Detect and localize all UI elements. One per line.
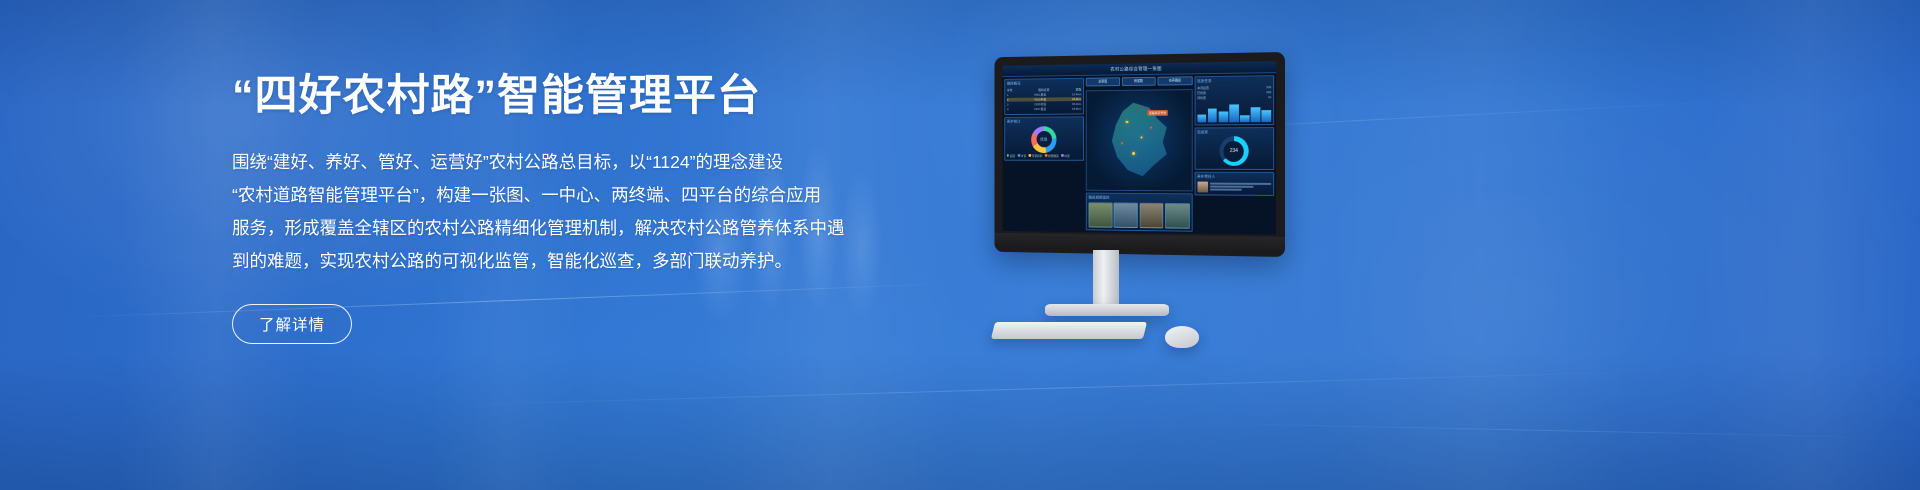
video-thumbnail[interactable] bbox=[1139, 203, 1163, 229]
legend-item: 乡道 bbox=[1018, 154, 1026, 158]
dashboard-screen: 农村公路综合管理一张图 路网概况 序号 路线名称 里程 1 bbox=[1002, 61, 1276, 235]
map-marker[interactable] bbox=[1126, 121, 1128, 123]
panel-heading: 养护责任人 bbox=[1197, 175, 1271, 180]
cell: 4 bbox=[1007, 107, 1009, 111]
panel-heading: 完成率 bbox=[1197, 130, 1271, 135]
table-row: 已处置 196 bbox=[1197, 90, 1271, 95]
cell: 待处置 bbox=[1197, 95, 1206, 99]
donut-value: 234 bbox=[1224, 141, 1244, 162]
cell: 33.1km bbox=[1072, 101, 1081, 105]
cell: X001县道 bbox=[1034, 92, 1046, 96]
cell: 已处置 bbox=[1197, 90, 1206, 94]
bar-chart bbox=[1197, 100, 1271, 122]
cell: 18.6km bbox=[1072, 106, 1081, 110]
description-line: 服务，形成覆盖全辖区的农村公路精细化管理机制，解决农村公路管养体系中遇 bbox=[232, 212, 882, 245]
cell: 里程 bbox=[1076, 87, 1082, 91]
cell: 2 bbox=[1007, 97, 1009, 101]
video-thumbnail[interactable] bbox=[1089, 202, 1113, 227]
monitor-base bbox=[1045, 304, 1169, 316]
description-line: “农村道路智能管理平台”，构建一张图、一中心、两终端、四平台的综合应用 bbox=[232, 179, 882, 212]
map-alert-tag: 道路病害预警 bbox=[1147, 110, 1168, 116]
dashboard-center-column: 总里程 桥梁数 在养路段 道路病害预警 bbox=[1086, 76, 1192, 231]
desktop-computer-illustration: 农村公路综合管理一张图 路网概况 序号 路线名称 里程 1 bbox=[975, 52, 1305, 352]
description-line: 围绕“建好、养好、管好、运营好”农村公路总目标，以“1124”的理念建设 bbox=[232, 146, 882, 179]
cell: C205村道 bbox=[1034, 102, 1046, 106]
kpi-card: 在养路段 bbox=[1158, 76, 1193, 85]
cell: 196 bbox=[1266, 90, 1271, 94]
legend-item: 县道 bbox=[1007, 154, 1015, 158]
cell: 本月巡查 bbox=[1197, 85, 1209, 89]
page-title: “四好农村路”智能管理平台 bbox=[232, 68, 882, 124]
dashboard-left-column: 路网概况 序号 路线名称 里程 1 X001县道 12.4km bbox=[1004, 78, 1084, 230]
condition-gauge-chart: 优良 bbox=[1031, 126, 1056, 153]
completion-donut-chart: 234 bbox=[1219, 136, 1248, 166]
legend-item: 桥梁隧道 bbox=[1045, 154, 1059, 158]
dashboard-body: 路网概况 序号 路线名称 里程 1 X001县道 12.4km bbox=[1002, 73, 1276, 235]
cell: Y013乡道 bbox=[1034, 97, 1046, 101]
road-network-panel: 路网概况 序号 路线名称 里程 1 X001县道 12.4km bbox=[1004, 78, 1084, 115]
cell: 路线名称 bbox=[1038, 87, 1049, 91]
cell: X107县道 bbox=[1034, 107, 1046, 111]
video-thumbnail[interactable] bbox=[1165, 203, 1190, 229]
table-row: 3 C205村道 33.1km bbox=[1007, 101, 1081, 106]
video-monitor-panel: 路段视频监控 bbox=[1086, 193, 1192, 232]
panel-heading: 养护统计 bbox=[1007, 119, 1081, 124]
hero-banner: “四好农村路”智能管理平台 围绕“建好、养好、管好、运营好”农村公路总目标，以“… bbox=[0, 0, 1920, 490]
video-thumbnail-row bbox=[1089, 202, 1190, 228]
hero-description: 围绕“建好、养好、管好、运营好”农村公路总目标，以“1124”的理念建设 “农村… bbox=[232, 146, 882, 278]
monitor-stand bbox=[1093, 250, 1119, 308]
video-thumbnail[interactable] bbox=[1114, 203, 1138, 229]
legend-item: 专项养护 bbox=[1029, 154, 1043, 158]
table-row: 待处置 42 bbox=[1197, 95, 1271, 100]
maintenance-stats-panel: 养护统计 优良 县道 乡道 专项养护 桥梁隧道 村道 bbox=[1004, 116, 1084, 160]
completion-rate-panel: 完成率 234 bbox=[1194, 127, 1274, 170]
panel-heading: 巡查任务 bbox=[1197, 78, 1271, 84]
table-row: 2 Y013乡道 26.8km bbox=[1007, 97, 1081, 102]
cell: 1 bbox=[1007, 93, 1009, 97]
person-detail-lines bbox=[1210, 183, 1272, 192]
gauge-legend: 县道 乡道 专项养护 桥梁隧道 村道 bbox=[1007, 154, 1081, 158]
description-line: 到的难题，实现农村公路的可视化监管，智能化巡查，多部门联动养护。 bbox=[232, 245, 882, 278]
table-row: 4 X107县道 18.6km bbox=[1007, 106, 1081, 110]
cell: 序号 bbox=[1007, 88, 1013, 92]
panel-heading: 路段视频监控 bbox=[1089, 196, 1190, 202]
map-marker[interactable] bbox=[1132, 152, 1134, 154]
learn-more-button[interactable]: 了解详情 bbox=[232, 304, 352, 344]
dashboard-right-column: 巡查任务 本月巡查 238 已处置 196 待处置 42 bbox=[1194, 75, 1274, 233]
avatar bbox=[1197, 182, 1208, 193]
panel-heading: 路网概况 bbox=[1007, 81, 1081, 87]
cell: 26.8km bbox=[1072, 97, 1081, 101]
kpi-row: 总里程 桥梁数 在养路段 bbox=[1086, 76, 1192, 86]
cell: 12.4km bbox=[1072, 92, 1081, 96]
mouse-icon bbox=[1165, 326, 1199, 348]
cell: 42 bbox=[1268, 95, 1271, 99]
kpi-card: 桥梁数 bbox=[1122, 77, 1156, 86]
keyboard-icon bbox=[991, 322, 1147, 339]
road-network-map[interactable]: 道路病害预警 bbox=[1086, 89, 1192, 191]
cell: 3 bbox=[1007, 102, 1009, 106]
inspection-task-panel: 巡查任务 本月巡查 238 已处置 196 待处置 42 bbox=[1194, 75, 1274, 125]
cell: 238 bbox=[1266, 85, 1271, 89]
kpi-card: 总里程 bbox=[1086, 77, 1120, 86]
gauge-value: 优良 bbox=[1036, 131, 1051, 147]
person-card bbox=[1197, 182, 1271, 193]
responsible-person-panel: 养护责任人 bbox=[1194, 172, 1274, 196]
monitor-icon: 农村公路综合管理一张图 路网概况 序号 路线名称 里程 1 bbox=[994, 52, 1285, 257]
legend-item: 村道 bbox=[1061, 154, 1069, 158]
hero-copy: “四好农村路”智能管理平台 围绕“建好、养好、管好、运营好”农村公路总目标，以“… bbox=[232, 68, 882, 344]
